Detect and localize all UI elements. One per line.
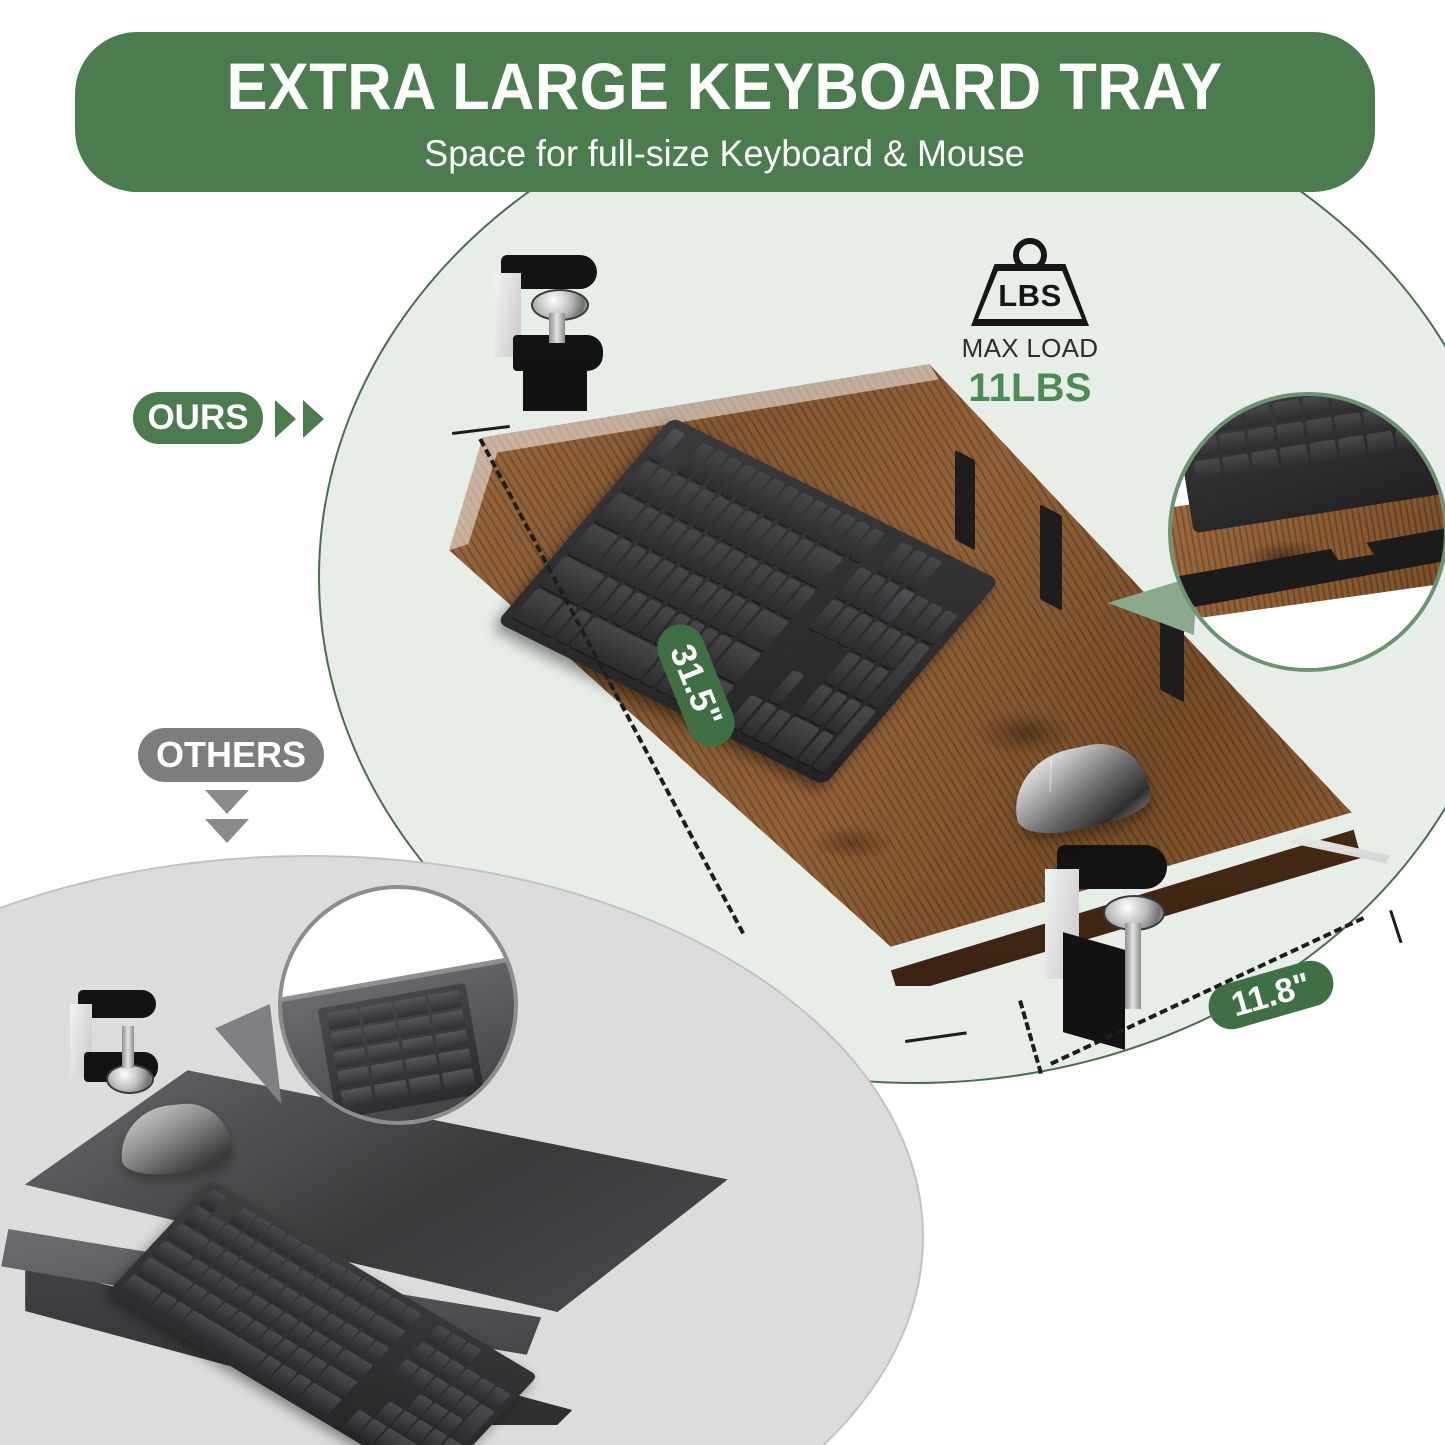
weight-icon-label: LBS (998, 278, 1062, 314)
down-triangle-2 (205, 819, 249, 843)
weight-icon: LBS (971, 238, 1089, 326)
inset-detail-others[interactable] (278, 885, 518, 1125)
max-load-value: 11LBS (930, 366, 1130, 411)
competitor-mouse (117, 1099, 234, 1178)
competitor-clamp-screw (122, 1026, 134, 1068)
double-right-triangle-icon (275, 400, 324, 438)
others-badge: OTHERS (138, 728, 324, 782)
competitor-clamp-knob (106, 1064, 154, 1094)
desk-clamp-top (495, 255, 615, 405)
right-triangle-1 (275, 400, 296, 438)
product-infographic: 31.5" 11.8" LBS MAX LOAD 11LBS OURS (0, 0, 1445, 1445)
inset-detail-ours[interactable] (1168, 392, 1445, 672)
max-load-badge: LBS MAX LOAD 11LBS (930, 238, 1130, 403)
down-triangle-1 (205, 790, 249, 814)
ours-badge: OURS (133, 392, 263, 444)
clamp-mount-block (523, 363, 587, 411)
header-banner: EXTRA LARGE KEYBOARD TRAY Space for full… (75, 32, 1375, 192)
clamp-screw-bottom (1125, 923, 1141, 1009)
clamp-screw-top (549, 313, 565, 343)
lip-rail-1 (955, 450, 975, 551)
competitor-desk-clamp (70, 990, 190, 1120)
lip-rail-2 (1040, 504, 1062, 611)
desk-clamp-bottom (1045, 845, 1205, 1045)
competitor-mouse-body (117, 1099, 234, 1178)
weight-icon-inner: LBS (978, 271, 1082, 319)
page-title: EXTRA LARGE KEYBOARD TRAY (227, 53, 1223, 119)
double-down-triangle-icon (205, 790, 249, 843)
max-load-caption: MAX LOAD (930, 333, 1130, 364)
weight-icon-body: LBS (971, 264, 1089, 326)
right-triangle-2 (303, 400, 324, 438)
page-subtitle: Space for full-size Keyboard & Mouse (425, 133, 1025, 175)
